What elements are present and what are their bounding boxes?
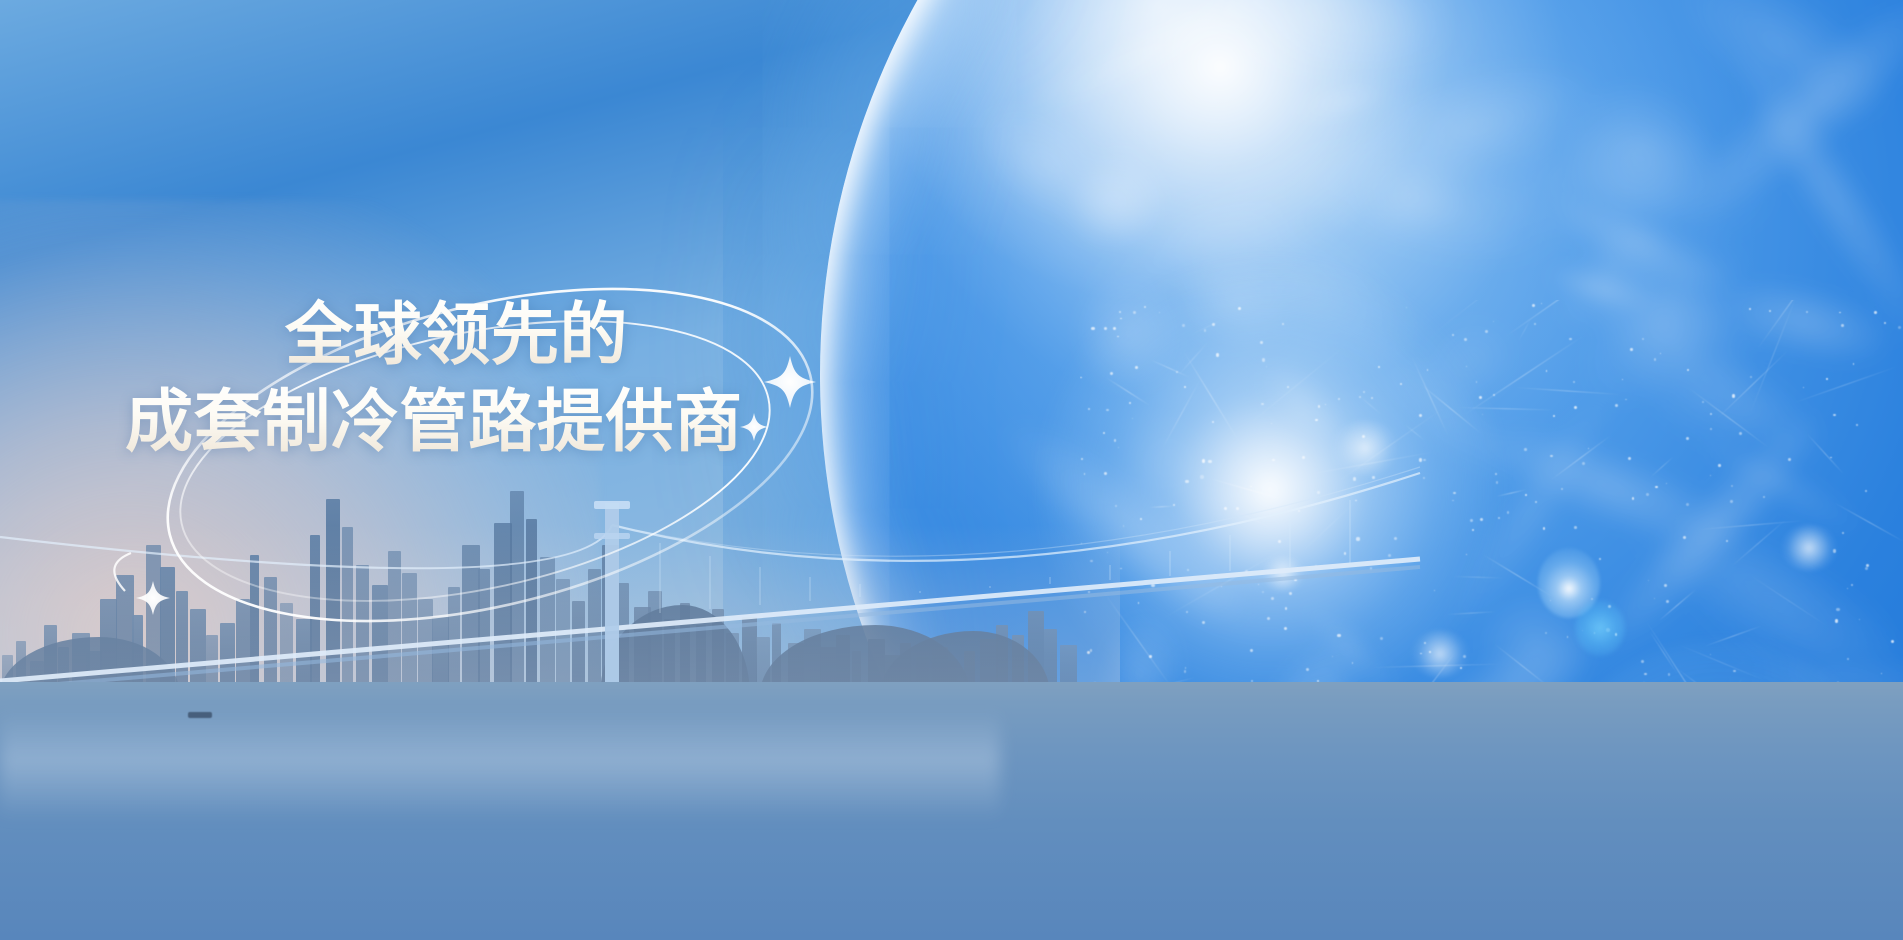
city-light-point	[1806, 311, 1808, 313]
city-light-point	[1133, 311, 1136, 314]
city-light-point	[1884, 322, 1886, 324]
city-light-filament	[1749, 300, 1797, 415]
city-light-point	[1315, 419, 1318, 422]
headline-line-2: 成套制冷管路提供商	[0, 379, 880, 466]
city-light-point	[1524, 448, 1527, 451]
city-light-point	[1132, 418, 1133, 419]
city-light-point	[1479, 396, 1482, 399]
city-light-point	[1588, 448, 1589, 449]
city-light-point	[1144, 306, 1146, 308]
city-light-point	[1710, 475, 1712, 477]
skyline-building	[372, 585, 388, 695]
city-light-point	[1372, 476, 1374, 478]
city-light-point	[1750, 376, 1752, 378]
city-light-point	[1208, 460, 1211, 463]
city-light-filament	[1193, 320, 1223, 334]
city-light-point	[1654, 598, 1655, 599]
city-light-point	[1110, 372, 1113, 375]
city-light-point	[1419, 458, 1422, 461]
skyline-building	[388, 551, 401, 695]
skyline-building	[250, 555, 259, 695]
city-light-point	[1080, 377, 1081, 378]
city-light-point	[1686, 503, 1689, 506]
city-light-point	[1135, 366, 1138, 369]
city-light-point	[1567, 636, 1569, 638]
city-light-point	[1406, 307, 1407, 308]
city-light-filament	[1699, 521, 1804, 531]
city-light-filament	[1463, 335, 1584, 416]
city-light-point	[1106, 409, 1108, 411]
city-light-point	[1655, 486, 1657, 488]
bridge-tower	[605, 503, 619, 693]
city-light-point	[1353, 477, 1356, 480]
city-light-point	[1104, 472, 1108, 476]
city-light-point	[1630, 348, 1632, 350]
hero-banner: 全球领先的 成套制冷管路提供商	[0, 0, 1903, 940]
city-light-point	[1574, 406, 1578, 410]
city-light-point	[1318, 405, 1320, 407]
city-light-point	[1429, 651, 1430, 652]
city-light-point	[1362, 435, 1365, 438]
city-light-point	[1561, 488, 1563, 490]
city-light-point	[1464, 338, 1467, 341]
city-light-point	[1891, 640, 1894, 643]
city-light-point	[1534, 323, 1536, 325]
city-light-point	[1739, 432, 1742, 435]
city-light-filament	[1496, 489, 1526, 497]
city-light-point	[1302, 456, 1305, 459]
city-light-point	[1763, 496, 1766, 499]
city-light-point	[1788, 458, 1791, 461]
city-light-point	[1666, 600, 1669, 603]
city-light-filament	[1688, 387, 1771, 449]
city-light-point	[1702, 401, 1704, 403]
city-light-point	[1470, 519, 1473, 522]
bridge-cable-right	[612, 473, 1420, 561]
city-light-point	[1261, 403, 1264, 406]
city-light-point	[1088, 408, 1090, 410]
city-light-point	[1182, 324, 1185, 327]
boat	[188, 712, 212, 718]
city-light-point	[1271, 423, 1272, 424]
city-light-point	[1262, 358, 1265, 361]
city-light-point	[1710, 413, 1712, 415]
city-light-point	[1881, 673, 1882, 674]
city-light-filament	[1177, 342, 1208, 377]
city-light-filament	[1756, 300, 1839, 350]
city-light-point	[1654, 358, 1657, 361]
city-light-point	[1851, 584, 1853, 586]
city-light-point	[1865, 490, 1867, 492]
skyline-building	[310, 535, 320, 695]
city-light-point	[1769, 310, 1771, 312]
city-light-point	[1625, 399, 1627, 401]
city-light-filament	[1515, 387, 1620, 395]
city-light-cluster	[1780, 525, 1838, 571]
city-light-point	[1732, 394, 1736, 398]
city-light-point	[1541, 303, 1542, 304]
city-light-point	[1553, 415, 1555, 417]
city-light-point	[1476, 381, 1478, 383]
city-light-point	[1866, 564, 1869, 567]
city-light-filament	[1792, 366, 1898, 404]
city-light-point	[1482, 414, 1483, 415]
city-light-point	[1666, 483, 1667, 484]
city-light-filament	[1550, 434, 1612, 480]
city-light-point	[1628, 457, 1631, 460]
city-light-point	[1898, 326, 1901, 329]
city-light-filament	[1162, 380, 1201, 449]
water-sheen	[0, 710, 1000, 820]
city-light-point	[1847, 588, 1848, 589]
city-light-point	[1642, 338, 1644, 340]
city-light-point	[1434, 590, 1435, 591]
city-light-point	[1427, 369, 1429, 371]
skyline-building	[356, 565, 369, 695]
city-light-point	[1120, 318, 1122, 320]
city-light-point	[1119, 311, 1121, 313]
city-light-point	[1660, 353, 1661, 354]
city-light-point	[1874, 311, 1877, 314]
city-light-point	[1648, 580, 1649, 581]
city-light-point	[1836, 608, 1839, 611]
city-light-point	[1839, 312, 1841, 314]
skyline-building	[402, 573, 417, 695]
city-light-filament	[1658, 589, 1696, 622]
city-light-filament	[1446, 611, 1497, 615]
city-light-point	[1400, 383, 1402, 385]
city-light-point	[1423, 477, 1425, 479]
city-light-point	[1453, 492, 1455, 494]
city-light-point	[1710, 428, 1712, 430]
lens-flare-secondary	[1575, 600, 1625, 656]
city-light-point	[1113, 327, 1116, 330]
city-light-point	[1550, 455, 1553, 458]
city-light-point	[1238, 307, 1241, 310]
city-light-point	[1847, 658, 1848, 659]
city-light-filament	[1716, 350, 1789, 420]
city-light-filament	[1358, 395, 1382, 415]
city-light-point	[1749, 308, 1751, 310]
skyline-building	[342, 527, 353, 695]
city-light-point	[1480, 518, 1483, 521]
city-light-point	[1287, 386, 1289, 388]
city-light-point	[1507, 511, 1509, 513]
city-light-point	[1378, 366, 1380, 368]
city-light-point	[1200, 475, 1203, 478]
skyline-building	[478, 569, 490, 695]
city-light-point	[1622, 379, 1623, 380]
city-light-filament	[1650, 456, 1675, 478]
city-light-point	[1599, 558, 1601, 560]
city-light-point	[1495, 473, 1497, 475]
city-light-point	[1118, 447, 1119, 448]
city-light-point	[1546, 370, 1547, 371]
city-light-filament	[1246, 345, 1346, 427]
skyline-building	[326, 499, 340, 695]
city-light-point	[1535, 501, 1538, 504]
city-light-point	[1545, 632, 1547, 634]
city-light-point	[1114, 439, 1117, 442]
city-light-point	[1833, 414, 1836, 417]
city-light-point	[1452, 334, 1454, 336]
city-light-point	[1282, 323, 1284, 325]
city-light-point	[1574, 526, 1577, 529]
city-light-point	[1683, 536, 1686, 539]
city-light-point	[1423, 459, 1426, 462]
city-light-point	[1202, 459, 1205, 462]
city-light-point	[1496, 481, 1499, 484]
city-light-point	[1582, 462, 1585, 465]
city-light-point	[1117, 336, 1119, 338]
city-light-point	[1129, 402, 1131, 404]
city-light-point	[1184, 386, 1186, 388]
city-light-point	[1185, 480, 1188, 483]
headline-line-1: 全球领先的	[0, 292, 880, 379]
city-light-point	[1452, 500, 1453, 501]
city-light-point	[1718, 464, 1720, 466]
city-light-filament	[1806, 433, 1844, 475]
city-light-point	[1466, 554, 1467, 555]
city-light-point	[1338, 398, 1340, 400]
city-light-point	[1686, 437, 1689, 440]
city-light-point	[1485, 330, 1488, 333]
city-light-point	[1826, 378, 1827, 379]
city-light-point	[1835, 619, 1838, 622]
city-light-point	[1272, 459, 1274, 461]
city-light-point	[1730, 500, 1732, 502]
city-light-point	[1532, 304, 1535, 307]
city-light-point	[1842, 532, 1844, 534]
skyline-building	[236, 599, 250, 695]
skyline-building	[264, 577, 277, 695]
city-light-point	[1841, 324, 1844, 327]
city-light-filament	[1748, 574, 1829, 628]
city-light-point	[1371, 397, 1373, 399]
city-light-point	[1420, 653, 1421, 654]
city-light-point	[1726, 540, 1728, 542]
city-light-point	[1212, 421, 1214, 423]
city-light-point	[1104, 327, 1107, 330]
city-light-point	[1853, 363, 1855, 365]
city-light-point	[1859, 619, 1860, 620]
city-light-point	[1204, 329, 1206, 331]
city-light-point	[1159, 312, 1160, 313]
city-light-point	[1803, 387, 1805, 389]
city-light-point	[1664, 584, 1667, 587]
city-light-point	[1091, 327, 1094, 330]
city-light-point	[1646, 493, 1649, 496]
city-light-point	[1266, 366, 1267, 367]
city-light-point	[1419, 414, 1422, 417]
city-light-filament	[1833, 502, 1903, 543]
city-light-point	[1865, 567, 1868, 570]
city-light-point	[1687, 369, 1689, 371]
city-light-point	[1493, 321, 1495, 323]
city-light-point	[1632, 497, 1635, 500]
city-light-point	[1363, 391, 1365, 393]
city-light-point	[1325, 404, 1326, 405]
city-light-point	[1525, 494, 1527, 496]
city-light-point	[1615, 404, 1618, 407]
city-light-point	[1466, 366, 1467, 367]
city-light-point	[1543, 527, 1545, 529]
city-light-point	[1731, 485, 1733, 487]
city-light-point	[1573, 381, 1575, 383]
skyline-building	[176, 591, 188, 695]
city-light-point	[1498, 517, 1501, 520]
headline-block: 全球领先的 成套制冷管路提供商	[0, 292, 880, 466]
city-light-point	[1216, 353, 1219, 356]
city-light-point	[1472, 529, 1474, 531]
city-light-point	[1856, 424, 1857, 425]
city-light-filament	[1452, 576, 1504, 578]
bridge-tower-brace	[594, 533, 630, 539]
city-light-point	[1103, 432, 1106, 435]
bridge-tower-cap	[594, 501, 630, 509]
city-light-point	[1260, 341, 1263, 344]
city-light-point	[1569, 338, 1572, 341]
